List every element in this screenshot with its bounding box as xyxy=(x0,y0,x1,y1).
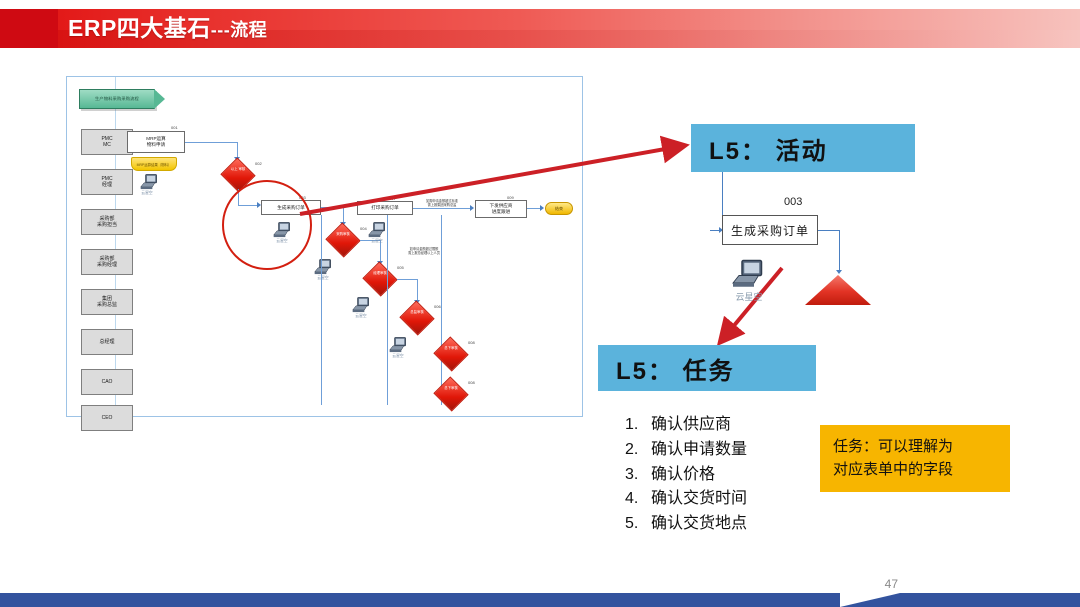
edge-note-escalation-2: 如申请金额超过限额 需上报总经理以上人员 xyxy=(397,247,451,255)
role-label-line2: MC xyxy=(103,142,111,148)
role-label-line2: 采购总监 xyxy=(97,302,117,308)
decision-008-a: 总下审核 xyxy=(434,340,468,368)
list-item: 4.确认交货时间 xyxy=(625,487,747,512)
role-label-line1: CAO xyxy=(102,379,113,385)
connector xyxy=(237,142,238,158)
connector xyxy=(527,208,541,209)
decision-num-002: 002 xyxy=(255,161,262,166)
highlight-circle xyxy=(222,180,312,270)
decision-num-006: 006 xyxy=(434,304,441,309)
task-list: 1.确认供应商 2.确认申请数量 3.确认价格 4.确认交货时间 5.确认交货地… xyxy=(625,413,747,537)
flow-start-tag-arrow-icon xyxy=(154,89,165,109)
computer-icon xyxy=(351,295,371,315)
connector-arrow-icon xyxy=(540,205,544,211)
title-banner-left-block xyxy=(0,9,58,48)
role-ceo: CEO xyxy=(81,405,133,431)
connector-rail xyxy=(321,215,322,405)
system-caption: 云星空 xyxy=(305,276,341,281)
connector xyxy=(417,279,418,301)
computer-icon xyxy=(388,335,408,355)
connector xyxy=(343,207,344,223)
role-label-line2: 采购经理 xyxy=(97,262,117,268)
process-box-release-supplier: 下发供应商 进度跟进 xyxy=(475,200,527,218)
system-caption: 云星空 xyxy=(380,354,416,359)
decision-num-004: 004 xyxy=(360,226,367,231)
footer-bar xyxy=(0,593,1080,607)
computer-icon xyxy=(726,256,770,292)
page-title-sub: ---流程 xyxy=(211,20,267,40)
decision-004: 采购审核 xyxy=(326,226,360,254)
computer-icon xyxy=(367,220,387,240)
list-item: 2.确认申请数量 xyxy=(625,438,747,463)
connector-arrow-icon xyxy=(470,205,474,211)
computer-icon xyxy=(313,257,333,277)
detail-connector xyxy=(839,230,840,272)
orange-note-line2: 对应表单中的字段 xyxy=(833,459,953,482)
sticky-note-mrp: MRP运算结果（物料） xyxy=(131,157,177,171)
role-group-purchasing-director: 集团 采购总监 xyxy=(81,289,133,315)
list-item: 3.确认价格 xyxy=(625,463,747,488)
decision-006: 总监审核 xyxy=(400,304,434,332)
detail-connector xyxy=(818,230,840,231)
process-box-print-po: 打印采购订单 xyxy=(357,201,413,215)
detail-connector-arrow-icon xyxy=(836,270,842,274)
decision-num-005: 005 xyxy=(397,265,404,270)
role-label-line1: 总经理 xyxy=(99,339,114,345)
role-label-line1: CEO xyxy=(102,415,113,421)
list-item: 1.确认供应商 xyxy=(625,413,747,438)
role-label-line2: 采购担当 xyxy=(97,222,117,228)
flow-start-tag: 生产物料采购采购流程 xyxy=(79,89,155,109)
connector-rail xyxy=(441,215,442,405)
connector xyxy=(185,142,237,143)
callout-task-l5: L5： 任务 xyxy=(598,345,816,391)
decision-008-b: 总下审核 xyxy=(434,380,468,408)
process-num-001: 001 xyxy=(171,125,178,130)
system-caption: 云星空 xyxy=(359,239,395,244)
decision-num-008-b: 008 xyxy=(468,380,475,385)
list-item: 5.确认交货地点 xyxy=(625,512,747,537)
detail-system-caption: 云星空 xyxy=(716,290,782,303)
connector xyxy=(321,207,343,208)
role-purchasing-manager: 采购部 采购经理 xyxy=(81,249,133,275)
connector xyxy=(413,208,471,209)
connector xyxy=(397,279,417,280)
role-cao: CAO xyxy=(81,369,133,395)
role-label-line2: 经理 xyxy=(102,182,112,188)
orange-note-callout: 任务：可以理解为 对应表单中的字段 xyxy=(820,425,1010,492)
detail-decision-shape xyxy=(805,275,871,305)
system-caption: 云星空 xyxy=(343,314,379,319)
role-general-manager: 总经理 xyxy=(81,329,133,355)
page-number: 47 xyxy=(885,577,898,591)
callout-activity-l5: L5： 活动 xyxy=(691,124,915,172)
computer-icon xyxy=(139,172,159,192)
flow-diagram-canvas: 生产物料采购采购流程 PMC MC PMC 经理 采购部 采购担当 采购部 采购… xyxy=(67,77,582,416)
role-pmc-manager: PMC 经理 xyxy=(81,169,133,195)
flow-diagram-panel: 生产物料采购采购流程 PMC MC PMC 经理 采购部 采购担当 采购部 采购… xyxy=(66,76,583,417)
detail-connector xyxy=(722,172,723,216)
system-caption: 云星空 xyxy=(129,191,165,196)
flow-end-node: 结束 xyxy=(545,202,573,215)
process-box-mrp: MRP运算 物料申请 xyxy=(127,131,185,153)
decision-num-008-a: 008 xyxy=(468,340,475,345)
orange-note-line1: 任务：可以理解为 xyxy=(833,436,953,459)
decision-005: 经理审核 xyxy=(363,265,397,293)
edge-note-escalation: 如需申请金额超过标准 需上报集团采购总监 xyxy=(415,199,469,207)
detail-process-num: 003 xyxy=(784,196,802,208)
role-purchasing-staff: 采购部 采购担当 xyxy=(81,209,133,235)
page-title-main: ERP四大基石 xyxy=(68,15,211,41)
detail-process-box: 生成采购订单 xyxy=(722,215,818,245)
role-pmc-mc: PMC MC xyxy=(81,129,133,155)
page-title: ERP四大基石---流程 xyxy=(68,12,267,47)
